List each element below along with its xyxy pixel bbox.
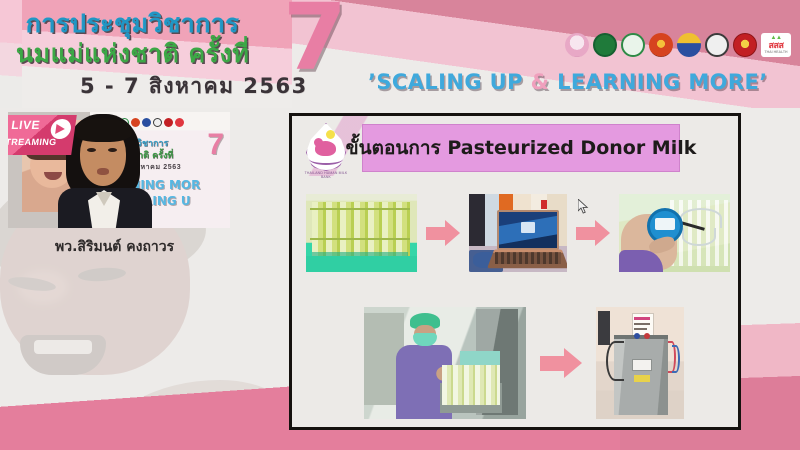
royal-patronage-emblem-icon <box>565 33 589 57</box>
arrow-right-1-icon <box>426 220 460 246</box>
nurse-loading-bottles-photo <box>364 307 526 419</box>
live-video-inset[interactable]: การประชุมวิชาการ นมแม่แห่งชาติ ครั้งที่ … <box>8 112 230 228</box>
human-milk-bank-logo-icon: THAILAND HUMAN MILK BANK <box>300 121 352 179</box>
tagline-suffix: LEARNING MORE’ <box>549 70 767 94</box>
arrow-right-2-icon <box>576 220 610 246</box>
backdrop-edition-number: 7 <box>207 130 224 160</box>
play-triangle-icon <box>55 124 65 134</box>
milk-bank-logo-caption: THAILAND HUMAN MILK BANK <box>300 171 352 179</box>
thaihealth-sublabel: THAI HEALTH <box>764 51 787 55</box>
tagline-prefix: ’SCALING UP <box>368 70 531 94</box>
thaihealth-label: สสส <box>769 41 784 50</box>
conference-title-line2: นมแม่แห่งชาติ ครั้งที่ <box>16 34 249 74</box>
blue-yellow-institution-crest-icon <box>677 33 701 57</box>
arrow-right-3-icon <box>540 348 582 378</box>
screen-capture: การประชุมวิชาการ นมแม่แห่งชาติ ครั้งที่ … <box>0 0 800 450</box>
edition-number: 7 <box>283 0 347 84</box>
live-streaming-badge: LIVE STREAMING <box>8 115 77 155</box>
slide-title: ขั้นตอนการ Pasteurized Donor Milk <box>346 133 697 163</box>
grey-circle-emblem-icon <box>705 33 729 57</box>
hand-holding-digital-timer-photo <box>619 194 730 272</box>
slide-title-banner: ขั้นตอนการ Pasteurized Donor Milk <box>362 124 680 172</box>
mouse-cursor-icon <box>578 199 589 214</box>
live-badge-label-line2: STREAMING <box>8 137 57 147</box>
ministry-of-public-health-emblem-icon <box>621 33 645 57</box>
sponsor-logo-row: ▲▲ สสส THAI HEALTH <box>565 28 793 62</box>
process-row-top <box>306 192 730 274</box>
conference-tagline: ’SCALING UP & LEARNING MORE’ <box>368 70 768 94</box>
speaker-name-label: พว.สิริมนต์ คงถาวร <box>55 236 174 258</box>
live-badge-label-line1: LIVE <box>10 118 41 132</box>
laptop-monitoring-station-photo <box>469 194 568 272</box>
green-circle-emblem-icon <box>593 33 617 57</box>
orange-royal-crest-icon <box>649 33 673 57</box>
thaihealth-sss-logo-icon: ▲▲ สสส THAI HEALTH <box>761 33 791 57</box>
shared-slide[interactable]: THAILAND HUMAN MILK BANK ขั้นตอนการ Past… <box>289 113 741 430</box>
process-row-bottom <box>364 306 684 420</box>
pasteurizer-machine-photo <box>596 307 684 419</box>
milk-bottles-in-rack-photo <box>306 194 417 272</box>
conference-date: 5 - 7 สิงหาคม 2563 <box>80 70 308 103</box>
tagline-ampersand: & <box>531 70 550 94</box>
red-circle-crest-icon <box>733 33 757 57</box>
